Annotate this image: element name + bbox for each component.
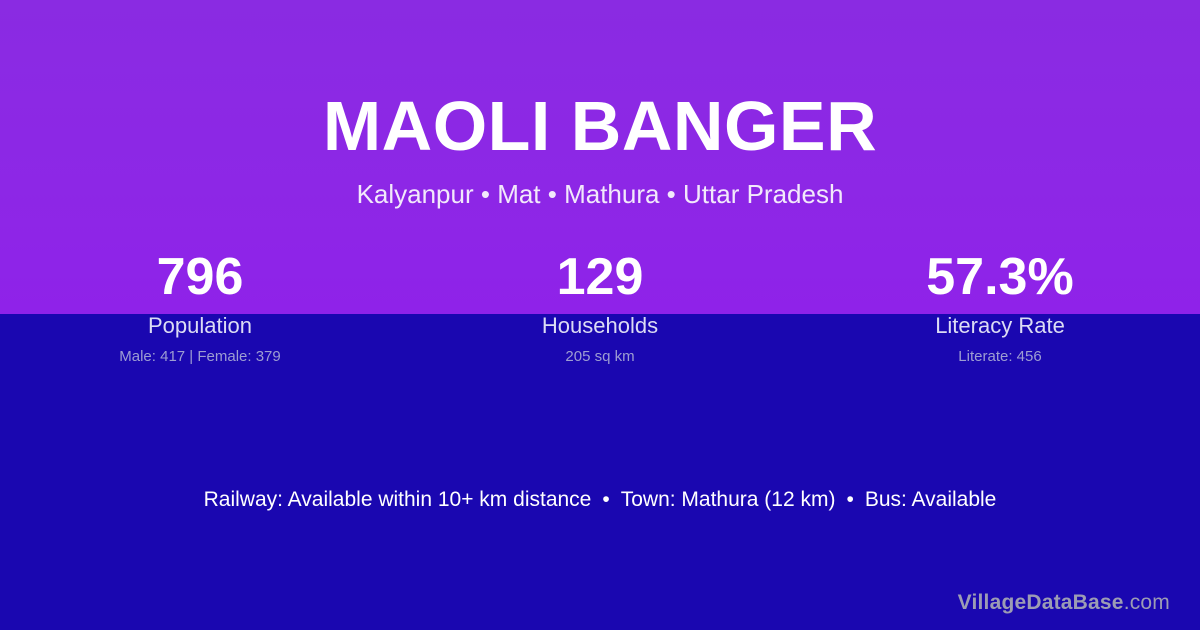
facilities-line: Railway: Available within 10+ km distanc… bbox=[0, 487, 1200, 513]
stat-population: 796 Population Male: 417 | Female: 379 bbox=[0, 246, 400, 366]
facility-separator-icon: • bbox=[835, 487, 864, 513]
card-header: MAOLI BANGER Kalyanpur • Mat • Mathura •… bbox=[0, 0, 1200, 210]
stat-label: Population bbox=[0, 313, 400, 339]
stat-label: Literacy Rate bbox=[800, 313, 1200, 339]
site-watermark: VillageDataBase.com bbox=[958, 590, 1170, 616]
stat-households: 129 Households 205 sq km bbox=[400, 246, 800, 366]
watermark-name: VillageDataBase bbox=[958, 591, 1124, 614]
stats-row: 796 Population Male: 417 | Female: 379 1… bbox=[0, 246, 1200, 366]
facility-bus: Bus: Available bbox=[865, 488, 997, 511]
facility-town: Town: Mathura (12 km) bbox=[621, 488, 836, 511]
facility-separator-icon: • bbox=[591, 487, 620, 513]
stat-sublabel: 205 sq km bbox=[400, 347, 800, 366]
stat-literacy-rate: 57.3% Literacy Rate Literate: 456 bbox=[800, 246, 1200, 366]
breadcrumb: Kalyanpur • Mat • Mathura • Uttar Prades… bbox=[0, 166, 1200, 210]
stat-value: 796 bbox=[0, 246, 400, 308]
watermark-tld: .com bbox=[1124, 591, 1170, 614]
stat-sublabel: Male: 417 | Female: 379 bbox=[0, 347, 400, 366]
stat-label: Households bbox=[400, 313, 800, 339]
village-info-card: MAOLI BANGER Kalyanpur • Mat • Mathura •… bbox=[0, 0, 1200, 630]
stat-value: 57.3% bbox=[800, 246, 1200, 308]
stat-sublabel: Literate: 456 bbox=[800, 347, 1200, 366]
page-title: MAOLI BANGER bbox=[0, 0, 1200, 166]
facility-railway: Railway: Available within 10+ km distanc… bbox=[204, 488, 592, 511]
stat-value: 129 bbox=[400, 246, 800, 308]
